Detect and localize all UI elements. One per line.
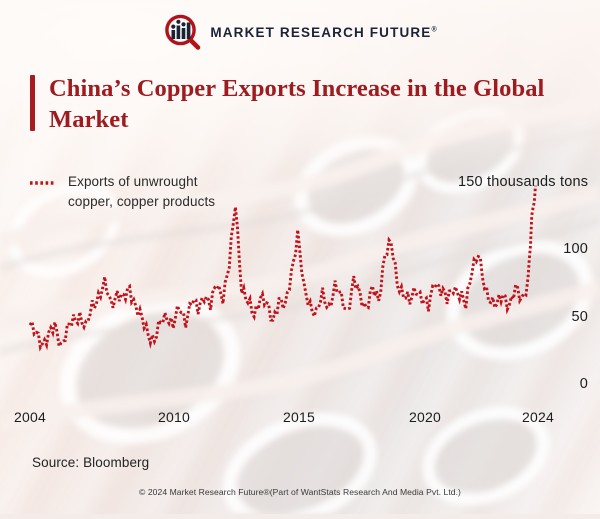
- y-axis-tick-0: 0: [556, 376, 588, 392]
- infographic-page: MARKET RESEARCH FUTURE® China’s Copper E…: [0, 0, 600, 514]
- x-axis-tick-2024: 2024: [522, 409, 554, 425]
- x-axis-tick-2010: 2010: [158, 409, 190, 425]
- x-axis-tick-2004: 2004: [14, 409, 46, 425]
- source-label: Source: Bloomberg: [32, 455, 149, 470]
- y-axis-unit-annotation: 150 thousands tons: [458, 174, 588, 190]
- copyright-notice: © 2024 Market Research Future®(Part of W…: [0, 487, 600, 497]
- line-chart: 150 thousands tons 100 50 0 2004 2010 20…: [0, 0, 600, 514]
- x-axis-tick-2015: 2015: [283, 409, 315, 425]
- y-axis-tick-100: 100: [556, 241, 588, 257]
- y-axis-tick-50: 50: [556, 309, 588, 325]
- x-axis-tick-2020: 2020: [409, 409, 441, 425]
- chart-series-dotted-line: [0, 0, 600, 514]
